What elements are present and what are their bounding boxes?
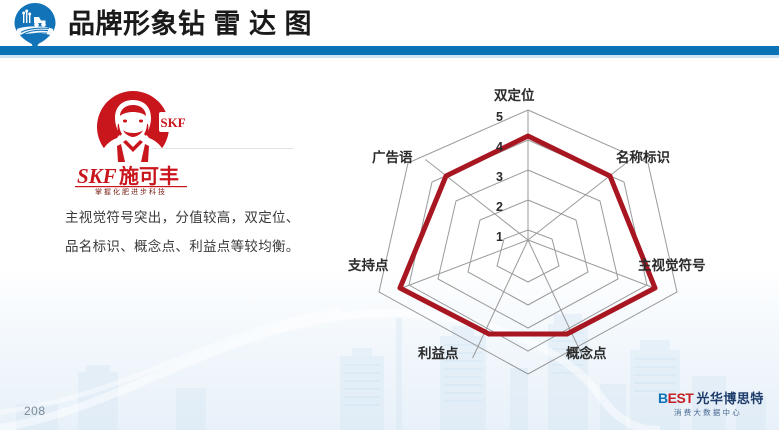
radar-tick-label-1: 1 [496, 230, 503, 244]
location-pin-farm-icon [6, 2, 64, 46]
radar-tick-label-3: 3 [496, 170, 503, 184]
page-title: 品牌形象钻 雷 达 图 [68, 6, 312, 42]
svg-text:掌握化肥进步科技: 掌握化肥进步科技 [95, 187, 167, 195]
radar-tick-label-4: 4 [496, 140, 503, 154]
skf-portrait-logo-icon: SKF SKF 施可丰 掌握化肥进步科技 [73, 90, 193, 195]
svg-text:施可丰: 施可丰 [119, 164, 179, 188]
footer-logo-subtitle: 消费大数据中心 [674, 407, 742, 418]
radar-axis-label-0: 双定位 [494, 84, 535, 104]
footer-logo: BEST光华博思特 消费大数据中心 [658, 390, 770, 420]
footer-logo-mark-est: EST [668, 390, 694, 406]
radar-axis-label-4: 利益点 [418, 342, 459, 362]
radar-axis-label-6: 广告语 [372, 146, 413, 166]
svg-text:SKF: SKF [160, 115, 185, 130]
radar-axis-label-2: 主视觉符号 [638, 254, 706, 274]
header-accent-bar-soft [0, 55, 779, 58]
header-accent-bar [0, 46, 779, 55]
radar-axis-label-5: 支持点 [348, 254, 389, 274]
page-number: 208 [24, 404, 46, 418]
radar-chart: 双定位 名称标识 主视觉符号 概念点 利益点 支持点 广告语 5 4 3 2 1 [348, 78, 768, 378]
radar-axis-label-3: 概念点 [566, 342, 607, 362]
radar-tick-label-5: 5 [496, 110, 503, 124]
divider [152, 148, 294, 149]
radar-axis-label-1: 名称标识 [616, 146, 670, 166]
svg-text:SKF: SKF [77, 164, 117, 188]
footer-logo-mark-b: B [658, 390, 668, 406]
radar-chart-svg [348, 78, 768, 378]
radar-tick-label-2: 2 [496, 200, 503, 214]
slide-header: 品牌形象钻 雷 达 图 [0, 0, 779, 46]
description-text: 主视觉符号突出，分值较高，双定位、品名标识、概念点、利益点等较均衡。 [65, 203, 300, 261]
slide-canvas: 品牌形象钻 雷 达 图 SKF SKF 施可丰 掌握化肥进步科技 主视觉符号突出… [0, 0, 779, 430]
footer-logo-name: 光华博思特 [696, 391, 764, 406]
